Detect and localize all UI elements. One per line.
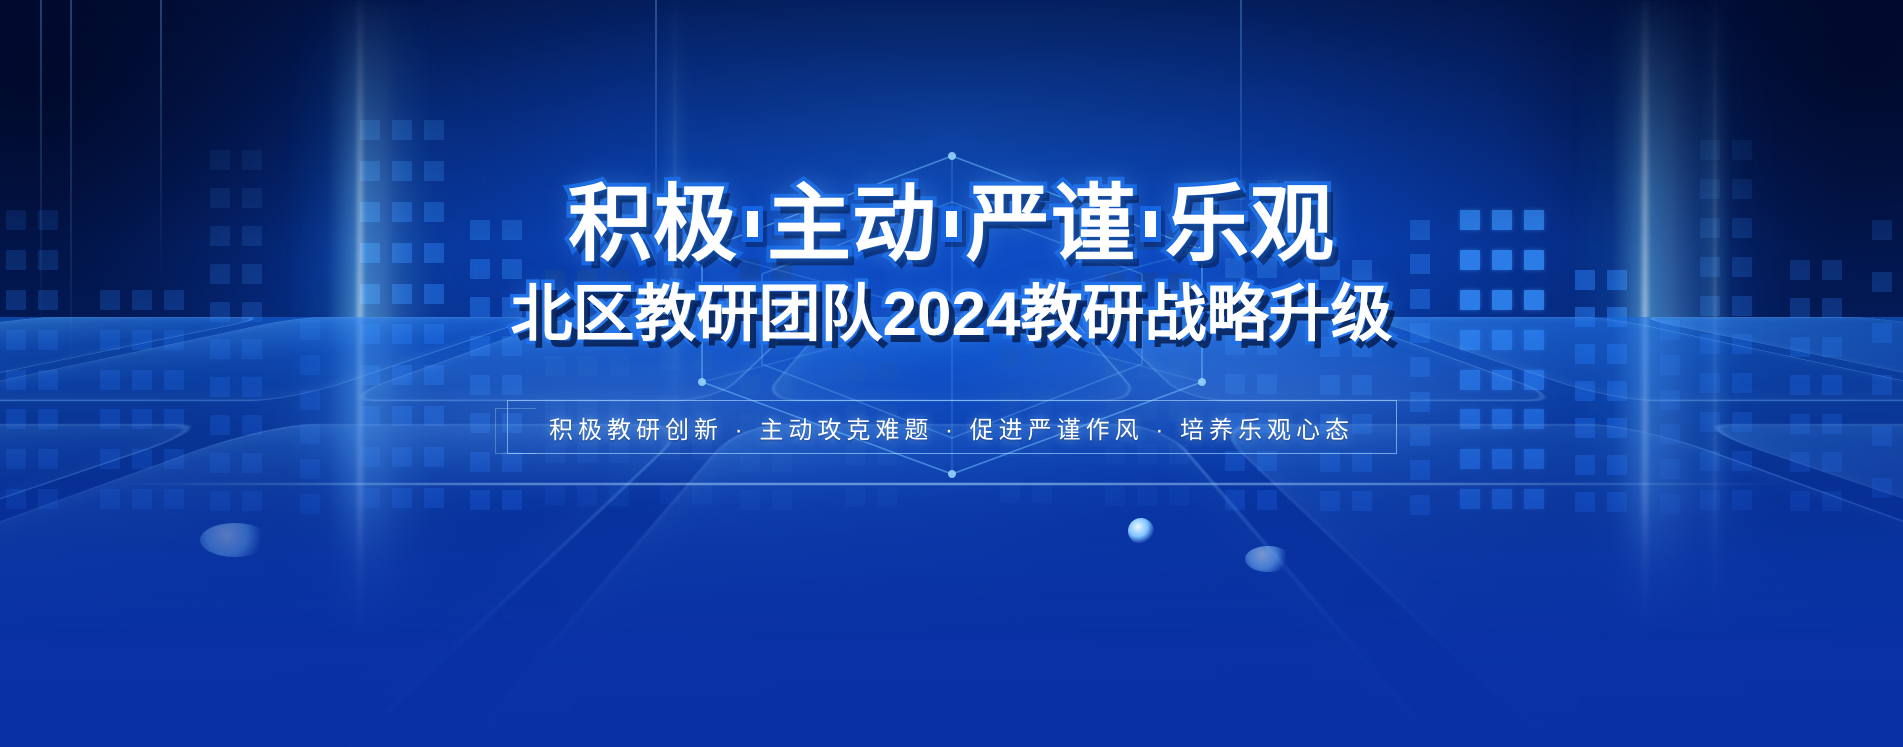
tagline: 积极教研创新 · 主动攻克难题 · 促进严谨作风 · 培养乐观心态	[507, 400, 1397, 454]
headline-separator-1	[747, 211, 758, 237]
headline-separator-2	[946, 211, 957, 237]
event-banner: 积极主动严谨乐观 北区教研团队2024教研战略升级 积极教研创新 · 主动攻克难…	[0, 0, 1903, 747]
headline-word-1: 积极	[568, 177, 738, 271]
banner-content: 积极主动严谨乐观 北区教研团队2024教研战略升级 积极教研创新 · 主动攻克难…	[0, 0, 1903, 747]
subheadline: 北区教研团队2024教研战略升级	[511, 284, 1393, 346]
headline-word-3: 严谨	[966, 177, 1136, 271]
headline-separator-3	[1145, 211, 1156, 237]
headline-word-4: 乐观	[1165, 177, 1335, 271]
headline: 积极主动严谨乐观	[568, 182, 1335, 266]
tagline-container: 积极教研创新 · 主动攻克难题 · 促进严谨作风 · 培养乐观心态	[507, 400, 1397, 454]
headline-word-2: 主动	[767, 177, 937, 271]
